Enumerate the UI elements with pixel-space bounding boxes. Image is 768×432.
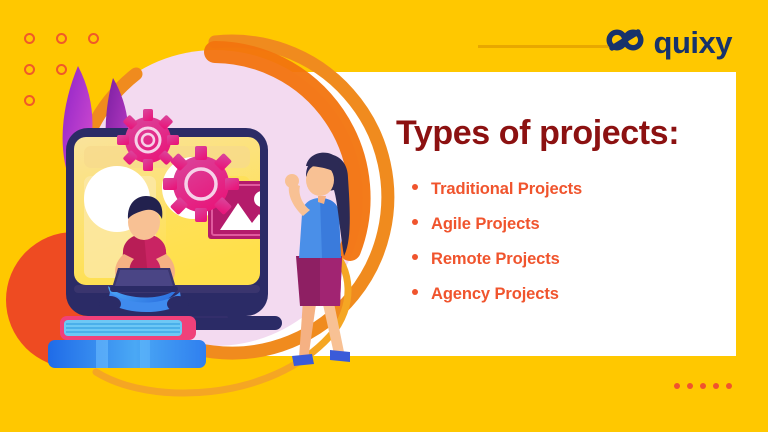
quixy-infinity-logo-icon bbox=[604, 27, 646, 58]
dot bbox=[726, 383, 732, 389]
stacked-books bbox=[48, 316, 206, 368]
page-title: Types of projects: bbox=[396, 114, 679, 153]
dot bbox=[674, 383, 680, 389]
list-item-label: Agile Projects bbox=[431, 215, 540, 234]
bullet-dot-icon bbox=[412, 254, 418, 260]
list-item: Agile Projects bbox=[412, 215, 582, 234]
list-item: Traditional Projects bbox=[412, 180, 582, 199]
list-item-label: Agency Projects bbox=[431, 285, 559, 304]
slide-canvas: quixy Types of projects: Traditional Pro… bbox=[0, 0, 768, 432]
bullet-dot-icon bbox=[412, 219, 418, 225]
dot-row bbox=[674, 383, 732, 389]
bullet-dot-icon bbox=[412, 184, 418, 190]
list-item-label: Remote Projects bbox=[431, 250, 560, 269]
dot bbox=[713, 383, 719, 389]
bullet-dot-icon bbox=[412, 289, 418, 295]
list-item: Remote Projects bbox=[412, 250, 582, 269]
header-rule bbox=[478, 45, 618, 48]
list-item-label: Traditional Projects bbox=[431, 180, 582, 199]
quixy-logo: quixy bbox=[604, 27, 732, 58]
team-working-on-monitor-illustration bbox=[0, 0, 400, 432]
project-types-list: Traditional Projects Agile Projects Remo… bbox=[412, 180, 582, 320]
list-item: Agency Projects bbox=[412, 285, 582, 304]
dot bbox=[700, 383, 706, 389]
quixy-logo-wordmark: quixy bbox=[654, 27, 732, 58]
dot bbox=[687, 383, 693, 389]
